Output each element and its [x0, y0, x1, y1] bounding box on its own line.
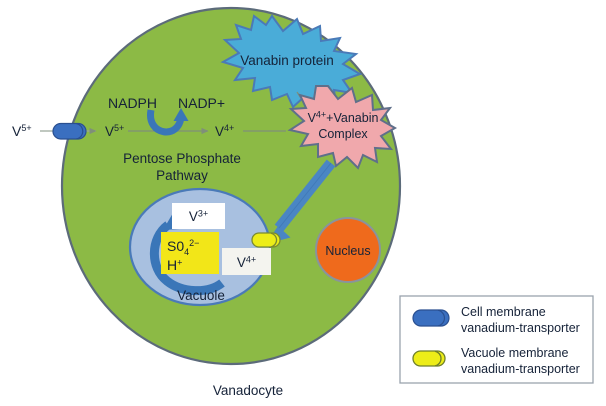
legend: Cell membrane vanadium-transporter Vacuo… [400, 296, 593, 383]
legend-vacuole-membrane-label-line2: vanadium-transporter [461, 362, 580, 376]
legend-cell-membrane-label-line1: Cell membrane [461, 305, 546, 319]
sulfate-proton-box: S042− H+ [161, 232, 219, 274]
legend-vacuole-membrane-label-line1: Vacuole membrane [461, 346, 569, 360]
vanadocyte-label: Vanadocyte [213, 383, 283, 398]
vanadocyte-diagram: Vanabin protein V4++Vanabin Complex V3+ … [0, 0, 606, 406]
legend-cell-membrane-label-line2: vanadium-transporter [461, 321, 580, 335]
nucleus-label: Nucleus [325, 244, 370, 258]
vanabin-protein-label: Vanabin protein [240, 53, 334, 68]
legend-vacuole-membrane-transporter-icon [413, 351, 445, 366]
cell-membrane-transporter-icon [53, 124, 86, 140]
v5-extracellular-label: V5+ [12, 123, 32, 139]
v3-species-box: V3+ [172, 203, 225, 229]
vacuole-label: Vacuole [177, 288, 225, 303]
pentose-pathway-label-line1: Pentose Phosphate [123, 151, 241, 166]
pentose-pathway-label-line2: Pathway [156, 168, 208, 183]
vacuole-membrane-transporter-icon [252, 233, 280, 247]
vanabin-complex-label-line2: Complex [318, 127, 368, 141]
legend-cell-membrane-transporter-icon [413, 310, 449, 326]
figure-canvas: Vanabin protein V4++Vanabin Complex V3+ … [0, 0, 606, 406]
nadp-plus-label: NADP+ [178, 95, 225, 111]
nadph-label: NADPH [108, 95, 157, 111]
v4-vacuole-species-box: V4+ [222, 248, 271, 275]
